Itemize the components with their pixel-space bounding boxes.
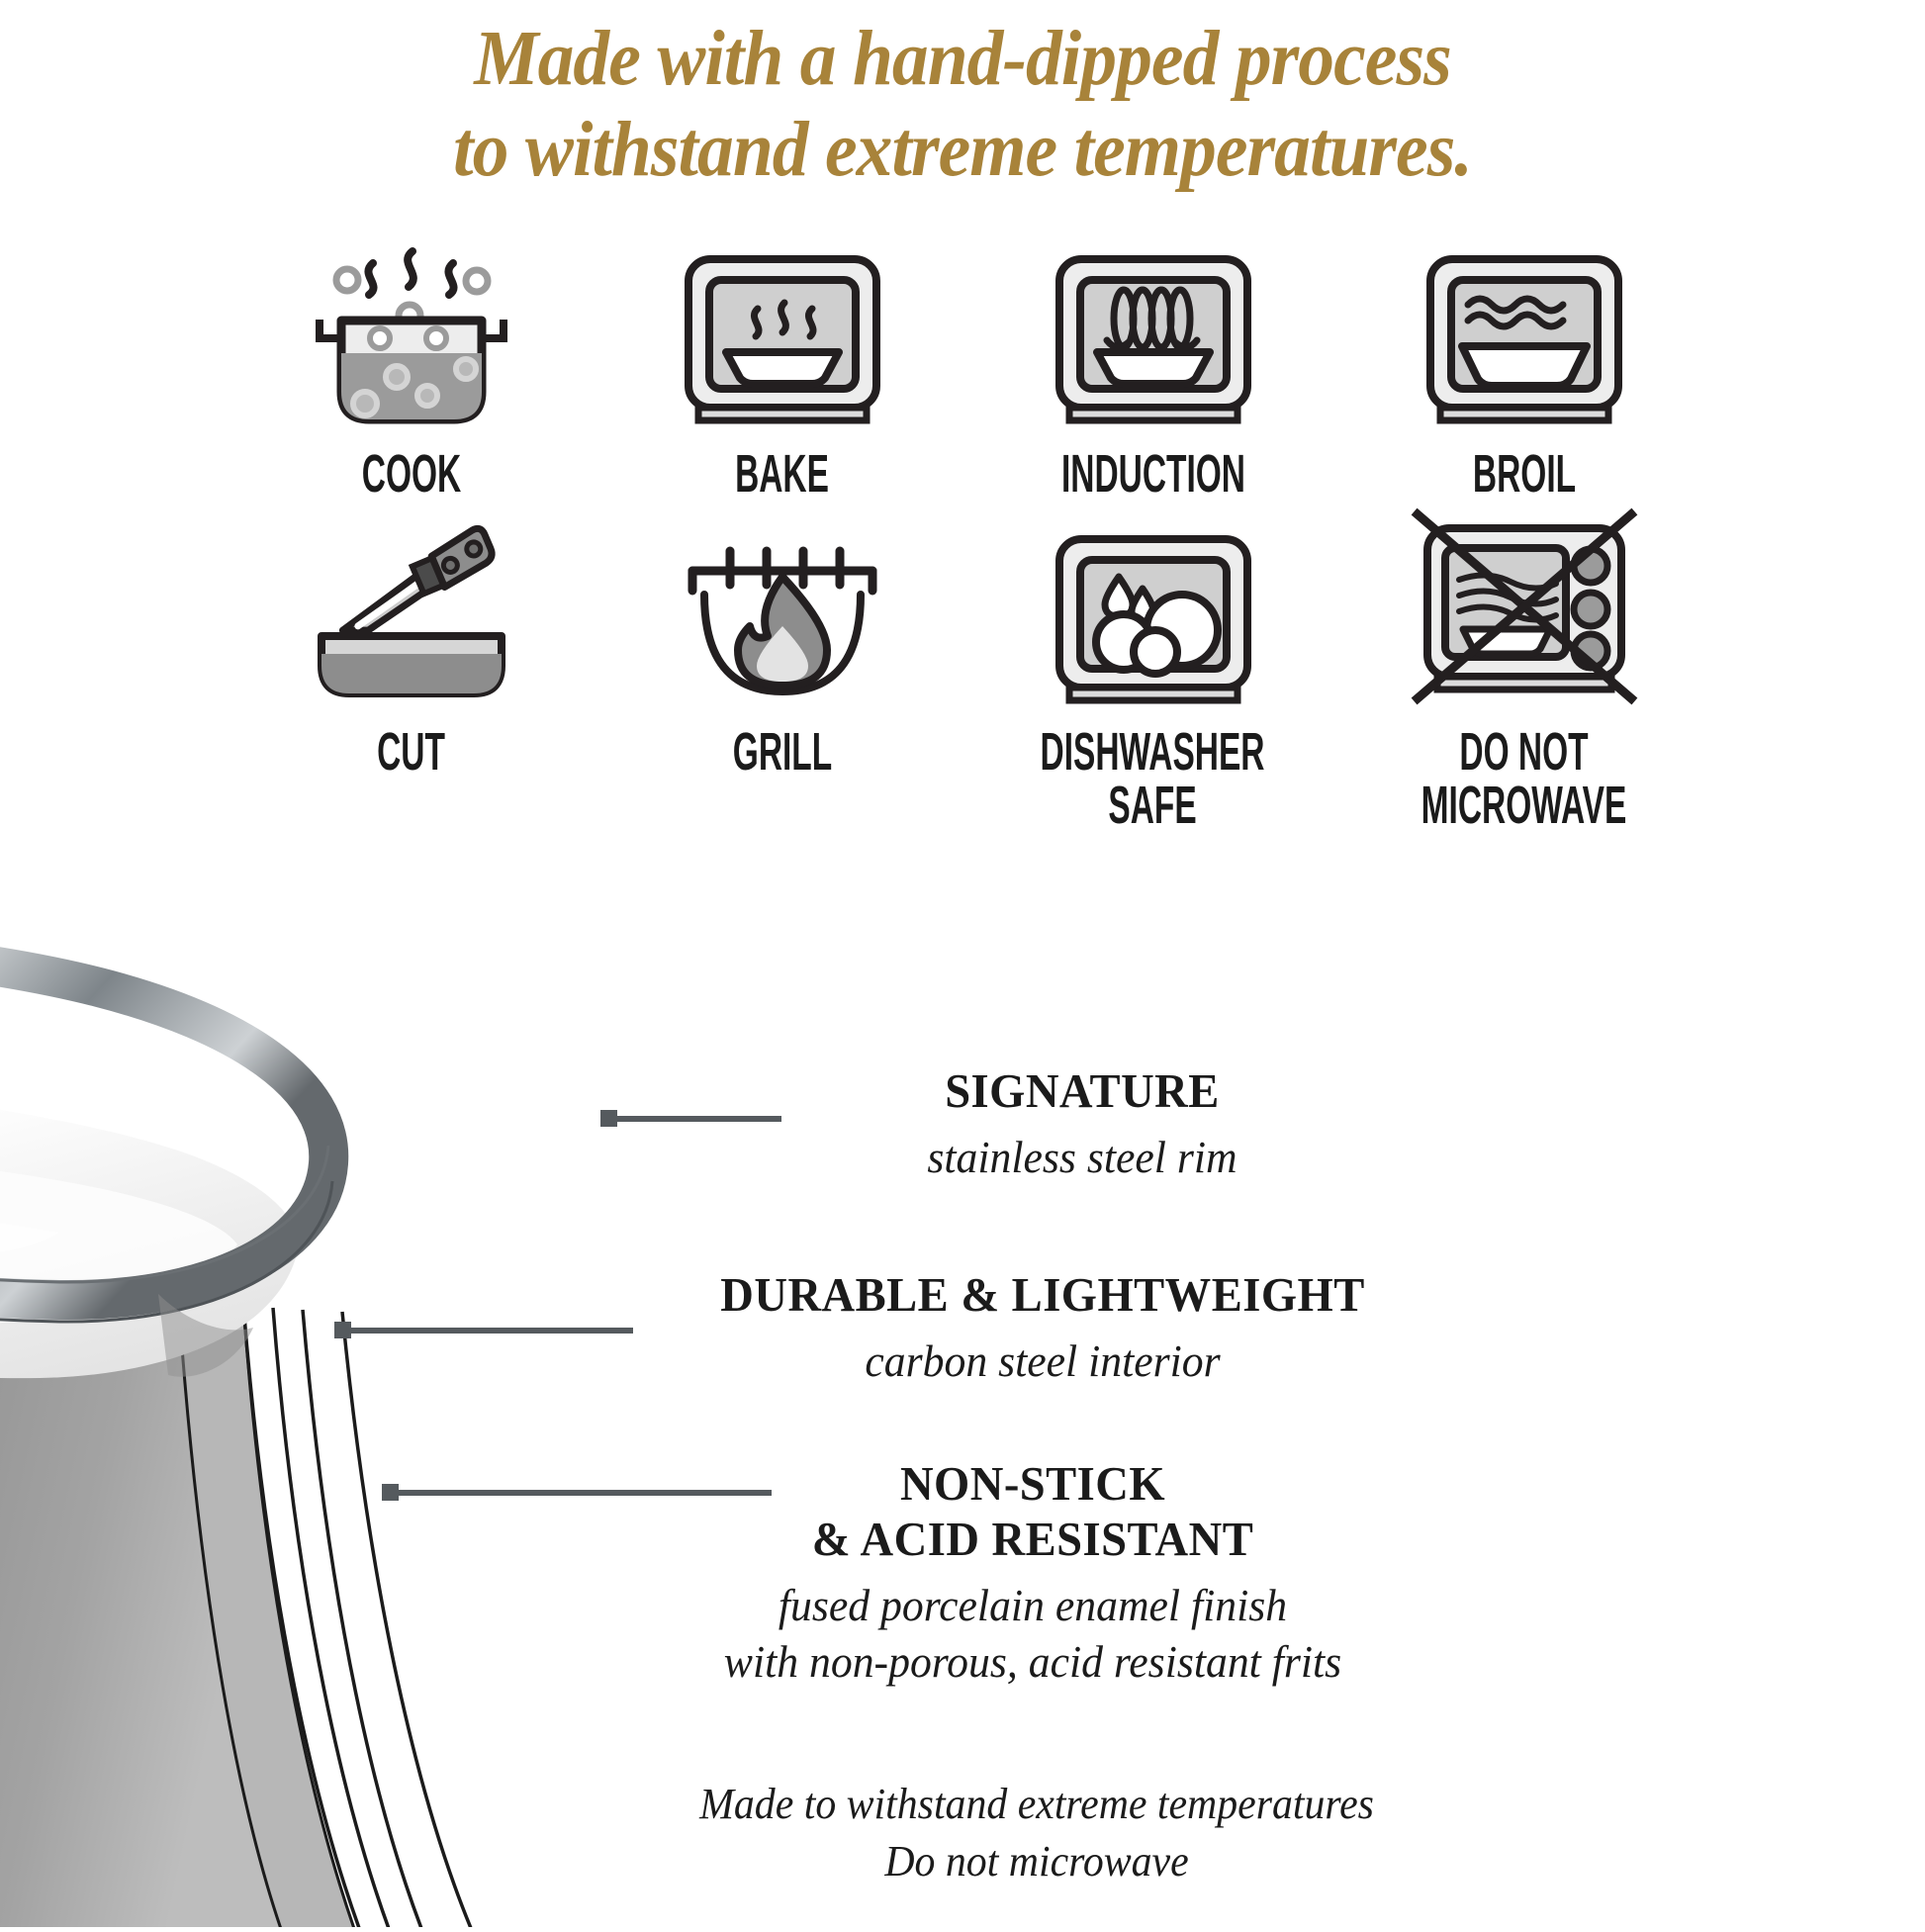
induction-coil-icon bbox=[1040, 235, 1267, 433]
feature-label: CUT bbox=[377, 725, 445, 779]
feature-broil: BROIL bbox=[1338, 235, 1709, 501]
feature-label: COOK bbox=[361, 447, 460, 501]
icon-row-2: CUT bbox=[226, 501, 1709, 832]
callout-title: NON-STICK & ACID RESISTANT bbox=[600, 1456, 1465, 1567]
callout-title: SIGNATURE bbox=[754, 1063, 1412, 1119]
oven-broil-icon bbox=[1411, 235, 1638, 433]
no-microwave-icon bbox=[1402, 501, 1647, 713]
headline-line-2: to withstand extreme temperatures. bbox=[67, 105, 1858, 196]
callout-subtitle: fused porcelain enamel finish with non-p… bbox=[600, 1577, 1465, 1690]
feature-grill: GRILL bbox=[596, 501, 967, 832]
feature-label: BAKE bbox=[735, 447, 829, 501]
callout-durable-lightweight: DURABLE & LIGHTWEIGHT carbon steel inter… bbox=[597, 1267, 1488, 1389]
feature-dishwasher-safe: DISHWASHER SAFE bbox=[967, 501, 1338, 832]
footnote-disclaimer: Made to withstand extreme temperatures D… bbox=[591, 1776, 1484, 1890]
feature-label: INDUCTION bbox=[1060, 447, 1244, 501]
feature-label: DO NOT MICROWAVE bbox=[1421, 725, 1627, 832]
cooking-pot-boiling-icon bbox=[298, 235, 525, 433]
headline: Made with a hand-dipped process to withs… bbox=[0, 14, 1925, 195]
dishwasher-safe-icon bbox=[1040, 501, 1267, 713]
feature-cut: CUT bbox=[226, 501, 596, 832]
feature-icon-grid: COOK BAKE bbox=[226, 235, 1709, 832]
feature-label: DISHWASHER SAFE bbox=[1041, 725, 1265, 832]
callout-signature: SIGNATURE stainless steel rim bbox=[736, 1063, 1428, 1185]
feature-bake: BAKE bbox=[596, 235, 967, 501]
feature-label: BROIL bbox=[1472, 447, 1575, 501]
knife-cut-icon bbox=[298, 501, 525, 713]
callout-subtitle: stainless steel rim bbox=[754, 1129, 1412, 1185]
icon-row-1: COOK BAKE bbox=[226, 235, 1709, 501]
feature-label: GRILL bbox=[732, 725, 831, 779]
feature-cook: COOK bbox=[226, 235, 596, 501]
oven-bake-icon bbox=[669, 235, 896, 433]
callout-non-stick-acid-resistant: NON-STICK & ACID RESISTANT fused porcela… bbox=[578, 1456, 1488, 1690]
grill-flame-icon bbox=[669, 501, 896, 713]
callout-subtitle: carbon steel interior bbox=[620, 1333, 1466, 1389]
callout-title: DURABLE & LIGHTWEIGHT bbox=[620, 1267, 1466, 1323]
feature-no-microwave: DO NOT MICROWAVE bbox=[1338, 501, 1709, 832]
feature-induction: INDUCTION bbox=[967, 235, 1338, 501]
headline-line-1: Made with a hand-dipped process bbox=[67, 14, 1858, 105]
